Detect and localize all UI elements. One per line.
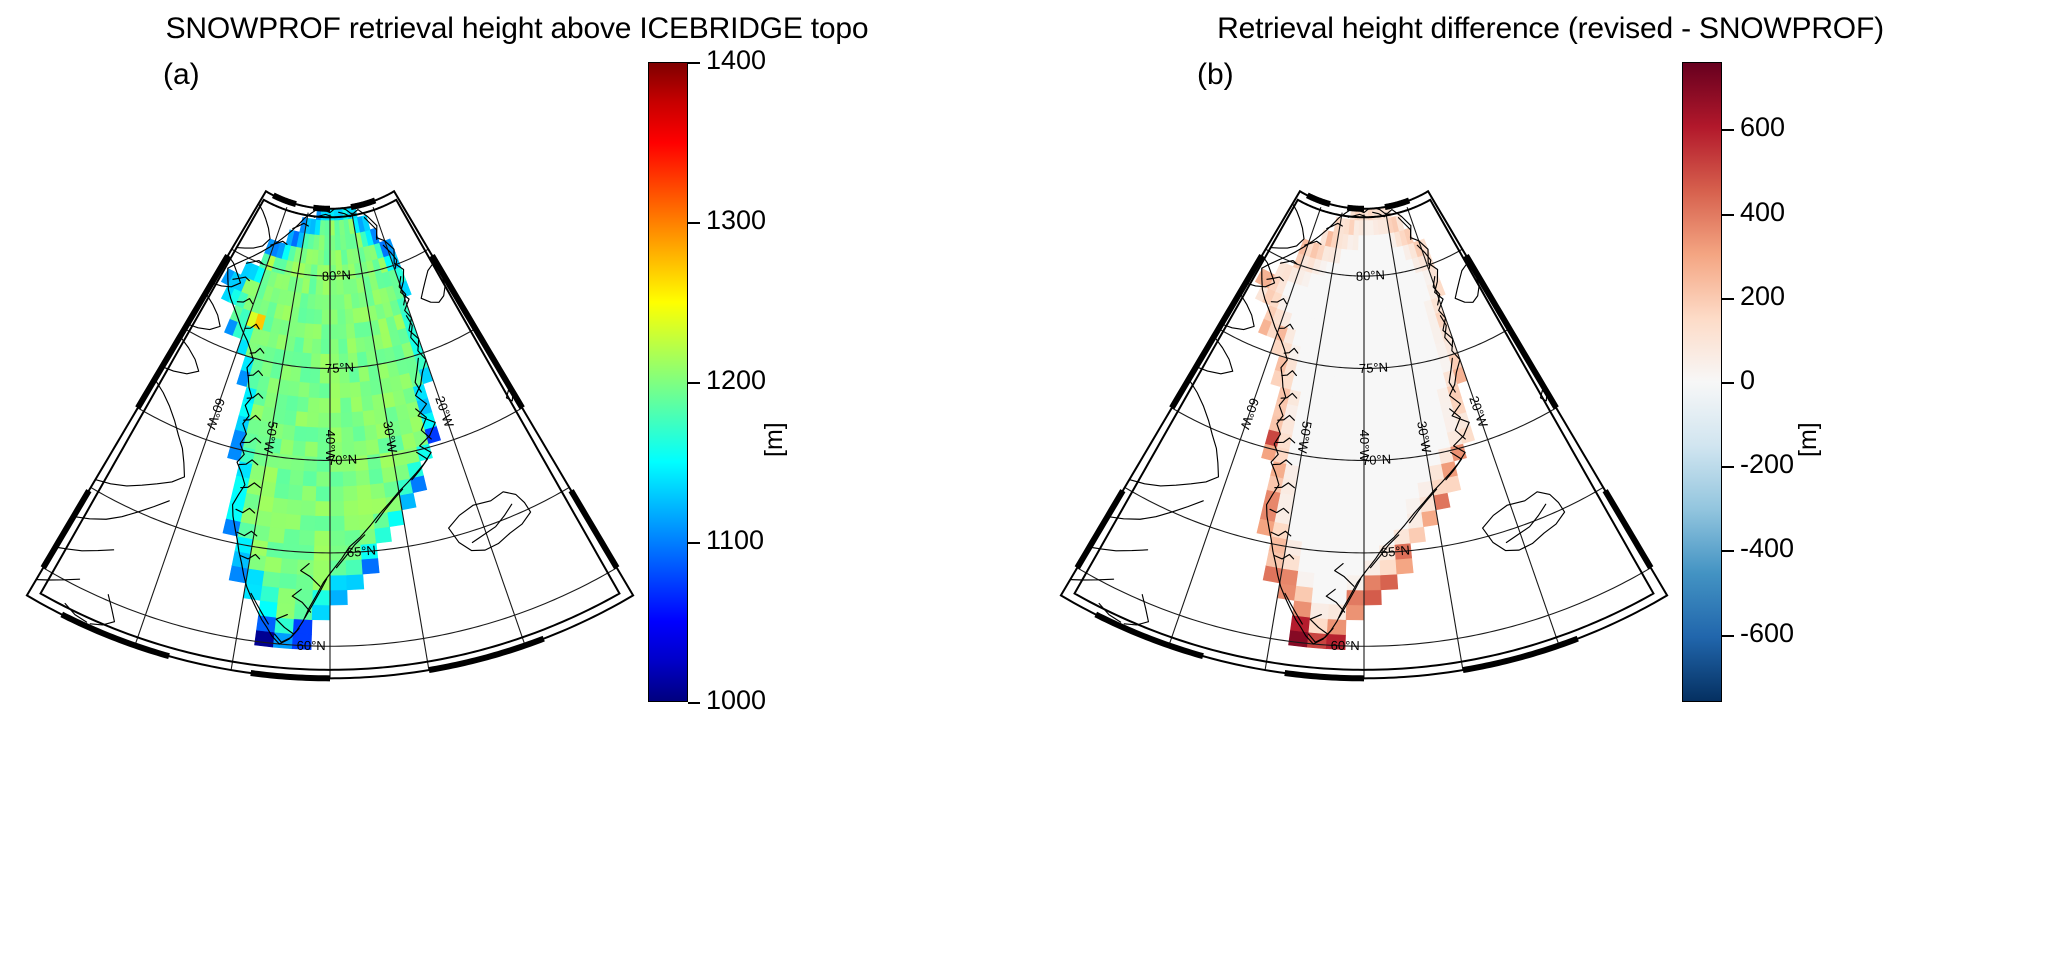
cb-a-gradient	[648, 62, 688, 702]
colorbar-tick	[1722, 382, 1734, 384]
colorbar-tick-label: 0	[1740, 365, 1755, 396]
panel-b: Retrieval height difference (revised - S…	[1034, 0, 2067, 956]
colorbar-tick-label: 200	[1740, 281, 1785, 312]
cb-b-gradient	[1682, 62, 1722, 702]
colorbar-tick-label: -600	[1740, 618, 1794, 649]
colorbar-tick-label: 600	[1740, 112, 1785, 143]
colorbar-tick-label: 1300	[706, 205, 766, 236]
colorbar-a[interactable]: 10001100120013001400 [m]	[648, 62, 768, 702]
figure-root: SNOWPROF retrieval height above ICEBRIDG…	[0, 0, 2067, 956]
colorbar-tick-label: 1200	[706, 365, 766, 396]
panel-b-title: Retrieval height difference (revised - S…	[1034, 12, 2067, 46]
colorbar-tick-label: -400	[1740, 533, 1794, 564]
colorbar-tick	[688, 222, 700, 224]
panel-a: SNOWPROF retrieval height above ICEBRIDG…	[0, 0, 1034, 956]
colorbar-b-unit: [m]	[1794, 422, 1823, 457]
colorbar-a-unit: [m]	[760, 422, 789, 457]
map-b[interactable]: 80°N75°N70°N65°N60°N60°W50°W40°W30°W20°W	[1044, 58, 1684, 698]
svg-text:40°W: 40°W	[323, 430, 338, 463]
map-a[interactable]: 80°N75°N70°N65°N60°N60°W50°W40°W30°W20°W	[10, 58, 650, 698]
colorbar-tick	[1722, 298, 1734, 300]
colorbar-tick	[1722, 214, 1734, 216]
colorbar-tick	[1722, 550, 1734, 552]
colorbar-tick	[688, 382, 700, 384]
colorbar-tick-label: 400	[1740, 197, 1785, 228]
colorbar-tick	[1722, 635, 1734, 637]
colorbar-tick	[688, 702, 700, 704]
colorbar-tick-label: 1100	[706, 525, 764, 556]
svg-text:40°W: 40°W	[1357, 430, 1372, 463]
colorbar-tick	[688, 62, 700, 64]
colorbar-tick	[688, 542, 700, 544]
colorbar-tick	[1722, 129, 1734, 131]
panel-a-title: SNOWPROF retrieval height above ICEBRIDG…	[0, 12, 1034, 46]
colorbar-tick-label: 1000	[706, 685, 766, 716]
colorbar-tick-label: -200	[1740, 449, 1794, 480]
colorbar-tick	[1722, 466, 1734, 468]
colorbar-tick-label: 1400	[706, 45, 766, 76]
colorbar-b[interactable]: -600-400-2000200400600 [m]	[1682, 62, 1802, 702]
